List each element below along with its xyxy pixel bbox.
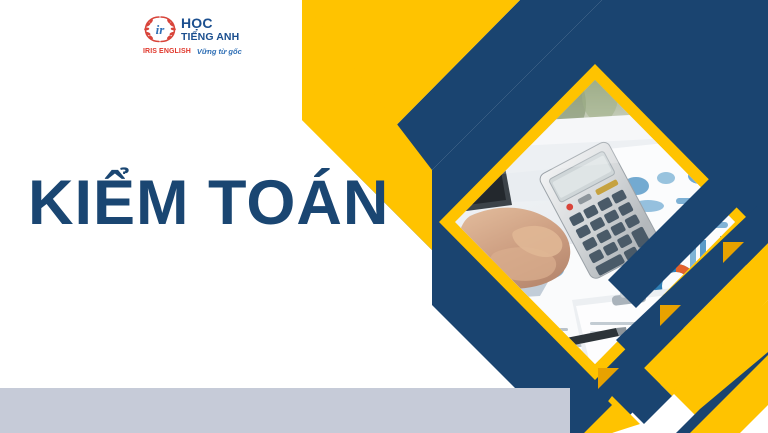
logo-top-row: ir HỌC TIẾNG ANH <box>142 14 264 44</box>
svg-text:ir: ir <box>156 22 166 37</box>
bottom-gray-bar <box>0 388 570 433</box>
logo-wordmark: HỌC TIẾNG ANH <box>181 14 239 43</box>
logo-brand-iris-english: IRIS ENGLISH <box>143 48 191 55</box>
logo-bottom-row: IRIS ENGLISH Vững từ gốc <box>143 47 264 56</box>
brand-logo[interactable]: ir HỌC TIẾNG ANH IRIS ENGLISH Vững từ gố… <box>142 14 264 66</box>
banner-root: ir HỌC TIẾNG ANH IRIS ENGLISH Vững từ gố… <box>0 0 768 433</box>
laurel-wreath-ir-monogram-icon: ir <box>142 14 178 44</box>
logo-tagline: Vững từ gốc <box>197 47 242 56</box>
page-title: KIỂM TOÁN <box>28 172 389 235</box>
logo-line-tieng-anh: TIẾNG ANH <box>181 32 239 43</box>
logo-line-hoc: HỌC <box>181 16 239 30</box>
